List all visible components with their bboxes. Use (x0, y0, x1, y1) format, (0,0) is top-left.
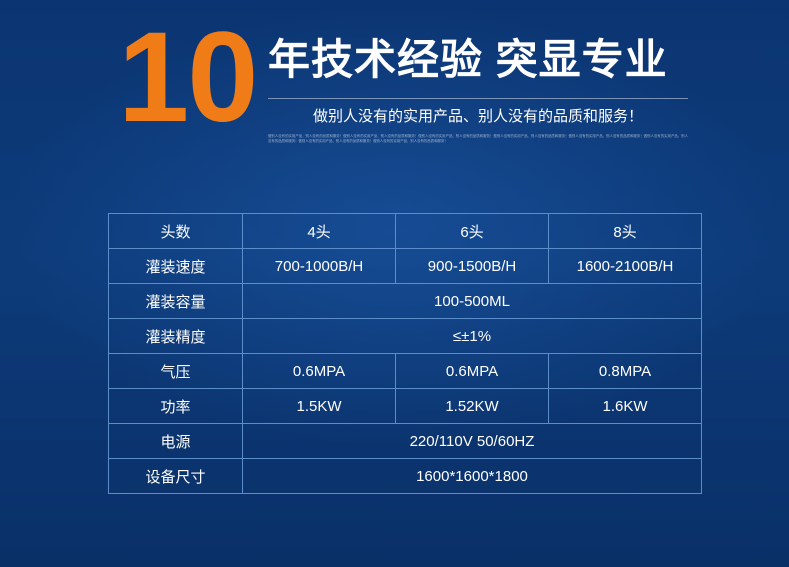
spec-table-container: 头数 4头 6头 8头 灌装速度 700-1000B/H 900-1500B/H… (108, 213, 681, 494)
table-row: 灌装容量 100-500ML (109, 284, 702, 319)
table-row: 灌装速度 700-1000B/H 900-1500B/H 1600-2100B/… (109, 249, 702, 284)
spec-row-value: 1.52KW (396, 389, 549, 424)
spec-row-value: 700-1000B/H (243, 249, 396, 284)
table-row: 气压 0.6MPA 0.6MPA 0.8MPA (109, 354, 702, 389)
spec-header-col3: 8头 (549, 214, 702, 249)
banner-microtext: 做别人没有的实用产品、别人没有的品质和服务！做别人没有的实用产品、别人没有的品质… (268, 134, 688, 156)
spec-row-value-merged: ≤±1% (243, 319, 702, 354)
spec-row-value-merged: 220/110V 50/60HZ (243, 424, 702, 459)
table-row: 功率 1.5KW 1.52KW 1.6KW (109, 389, 702, 424)
banner-subline: 做别人没有的实用产品、别人没有的品质和服务！ (268, 107, 688, 127)
spec-row-value: 0.6MPA (243, 354, 396, 389)
spec-row-label: 气压 (109, 354, 243, 389)
spec-table: 头数 4头 6头 8头 灌装速度 700-1000B/H 900-1500B/H… (108, 213, 702, 494)
spec-row-value: 900-1500B/H (396, 249, 549, 284)
spec-row-label: 功率 (109, 389, 243, 424)
spec-header-col1: 4头 (243, 214, 396, 249)
spec-row-value: 1.5KW (243, 389, 396, 424)
spec-row-value: 0.6MPA (396, 354, 549, 389)
spec-header-label: 头数 (109, 214, 243, 249)
spec-row-value: 1600-2100B/H (549, 249, 702, 284)
spec-row-value: 0.8MPA (549, 354, 702, 389)
spec-row-value-merged: 100-500ML (243, 284, 702, 319)
product-spec-banner: 10 年技术经验 突显专业 做别人没有的实用产品、别人没有的品质和服务！ 做别人… (0, 0, 789, 567)
banner-header: 10 年技术经验 突显专业 做别人没有的实用产品、别人没有的品质和服务！ 做别人… (0, 16, 789, 176)
spec-row-label: 灌装精度 (109, 319, 243, 354)
banner-headline: 年技术经验 突显专业 (268, 34, 668, 86)
spec-row-label: 灌装容量 (109, 284, 243, 319)
years-number: 10 (118, 22, 256, 134)
spec-row-value: 1.6KW (549, 389, 702, 424)
table-row: 电源 220/110V 50/60HZ (109, 424, 702, 459)
spec-row-label: 设备尺寸 (109, 459, 243, 494)
spec-row-label: 灌装速度 (109, 249, 243, 284)
table-row-header: 头数 4头 6头 8头 (109, 214, 702, 249)
banner-subline-container: 做别人没有的实用产品、别人没有的品质和服务！ (268, 98, 688, 127)
table-row: 灌装精度 ≤±1% (109, 319, 702, 354)
table-row: 设备尺寸 1600*1600*1800 (109, 459, 702, 494)
spec-row-value-merged: 1600*1600*1800 (243, 459, 702, 494)
spec-header-col2: 6头 (396, 214, 549, 249)
spec-row-label: 电源 (109, 424, 243, 459)
